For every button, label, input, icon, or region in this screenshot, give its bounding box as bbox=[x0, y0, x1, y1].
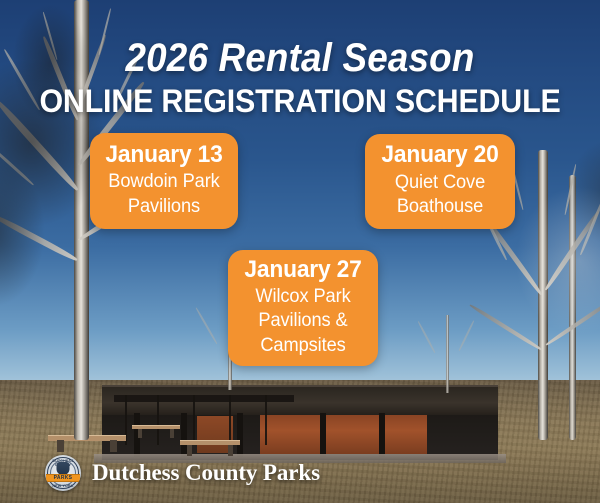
schedule-card-date: January 20 bbox=[378, 141, 502, 169]
schedule-card-place: Pavilions bbox=[103, 196, 226, 218]
schedule-card-quiet-cove: January 20 Quiet Cove Boathouse bbox=[365, 134, 515, 229]
schedule-card-bowdoin-park: January 13 Bowdoin Park Pavilions bbox=[90, 133, 238, 229]
schedule-card-place: Boathouse bbox=[378, 196, 503, 218]
schedule-card-wilcox-park: January 27 Wilcox Park Pavilions & Camps… bbox=[228, 250, 378, 366]
schedule-card-place: Pavilions & bbox=[241, 310, 366, 332]
poster-content: 2026 Rental Season ONLINE REGISTRATION S… bbox=[0, 0, 600, 503]
dutchess-county-parks-logo-icon: DUTCHESS COUNTY PARKS NEW YORK bbox=[45, 455, 81, 491]
logo-banner: PARKS bbox=[46, 474, 80, 482]
footer: DUTCHESS COUNTY PARKS NEW YORK Dutchess … bbox=[45, 455, 320, 491]
schedule-card-place: Quiet Cove bbox=[378, 172, 503, 194]
schedule-card-place: Wilcox Park bbox=[241, 286, 366, 308]
page-title: 2026 Rental Season bbox=[24, 38, 576, 78]
schedule-card-place: Bowdoin Park bbox=[103, 171, 226, 193]
schedule-card-date: January 27 bbox=[241, 256, 365, 284]
rental-season-poster: 2026 Rental Season ONLINE REGISTRATION S… bbox=[0, 0, 600, 503]
page-subtitle: ONLINE REGISTRATION SCHEDULE bbox=[15, 85, 585, 119]
logo-banner-text: PARKS bbox=[54, 476, 73, 481]
brand-name: Dutchess County Parks bbox=[92, 460, 320, 486]
schedule-card-place: Campsites bbox=[241, 335, 366, 357]
schedule-card-date: January 13 bbox=[103, 141, 225, 169]
logo-arc-bottom-text: NEW YORK bbox=[45, 484, 81, 488]
